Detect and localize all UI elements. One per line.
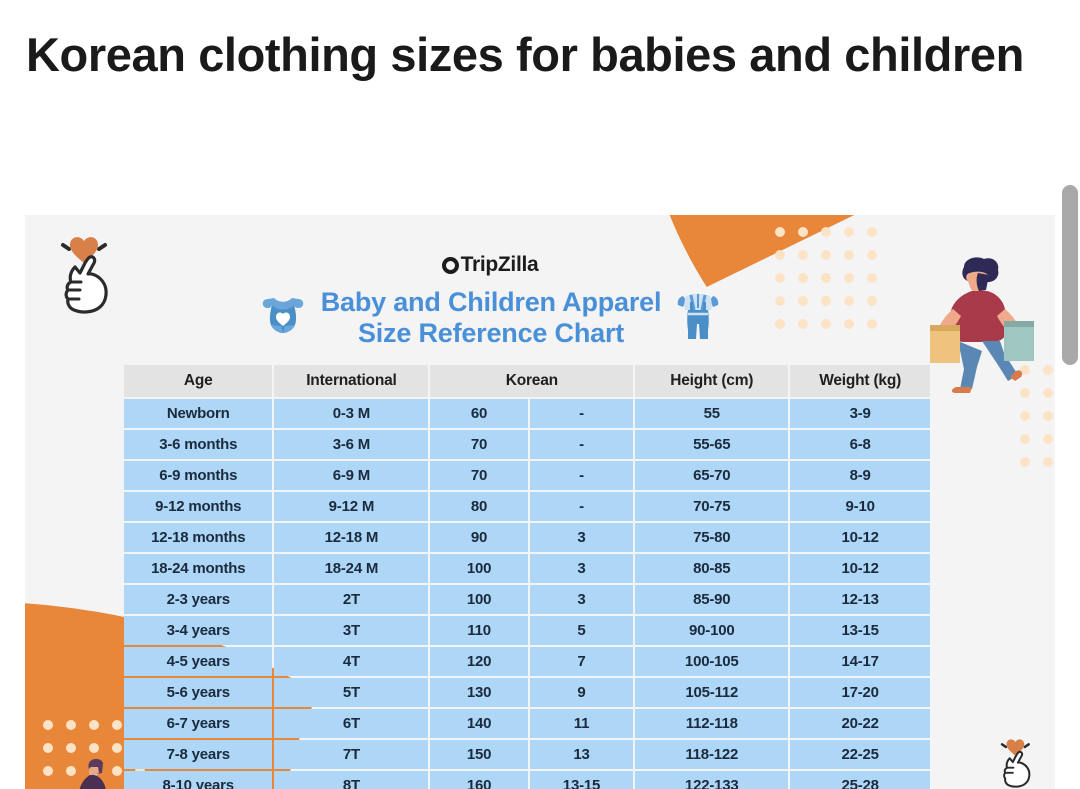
cell-korean-age: - xyxy=(530,399,633,428)
brand-logo: TripZilla xyxy=(25,253,955,277)
cell-korean-size: 160 xyxy=(430,771,527,789)
cell-age: 4-5 years xyxy=(124,647,272,676)
cell-international: 9-12 M xyxy=(274,492,428,521)
cell-age: 5-6 years xyxy=(124,678,272,707)
table-row: 6-9 months6-9 M70-65-708-9 xyxy=(124,461,930,490)
size-reference-table: Age International Korean Height (cm) Wei… xyxy=(122,363,932,789)
cell-age: 18-24 months xyxy=(124,554,272,583)
cell-age: 6-9 months xyxy=(124,461,272,490)
table-row: 4-5 years4T1207100-10514-17 xyxy=(124,647,930,676)
cell-weight: 9-10 xyxy=(790,492,930,521)
cell-korean-age: - xyxy=(530,430,633,459)
cell-age: 7-8 years xyxy=(124,740,272,769)
cell-korean-size: 70 xyxy=(430,461,527,490)
cell-weight: 17-20 xyxy=(790,678,930,707)
cell-weight: 8-9 xyxy=(790,461,930,490)
paw-logo-icon xyxy=(442,257,459,274)
cell-international: 0-3 M xyxy=(274,399,428,428)
cell-height: 85-90 xyxy=(635,585,788,614)
cell-weight: 10-12 xyxy=(790,554,930,583)
cell-age: 6-7 years xyxy=(124,709,272,738)
cell-weight: 13-15 xyxy=(790,616,930,645)
cell-international: 18-24 M xyxy=(274,554,428,583)
cell-height: 55-65 xyxy=(635,430,788,459)
cell-korean-age: 13 xyxy=(530,740,633,769)
cell-height: 55 xyxy=(635,399,788,428)
cell-international: 5T xyxy=(274,678,428,707)
brand-name: TripZilla xyxy=(461,253,539,276)
infographic-image: TripZilla Baby and Children Apparel Size… xyxy=(25,215,1055,789)
chart-title-row: Baby and Children Apparel Size Reference… xyxy=(25,287,955,348)
cell-international: 3T xyxy=(274,616,428,645)
cell-international: 4T xyxy=(274,647,428,676)
baby-dungarees-icon xyxy=(675,288,721,347)
column-header-age: Age xyxy=(124,365,272,397)
cell-age: Newborn xyxy=(124,399,272,428)
cell-korean-age: - xyxy=(530,461,633,490)
cell-korean-size: 120 xyxy=(430,647,527,676)
cell-korean-size: 80 xyxy=(430,492,527,521)
chart-title: Baby and Children Apparel Size Reference… xyxy=(321,287,662,348)
cell-weight: 20-22 xyxy=(790,709,930,738)
cell-korean-age: 7 xyxy=(530,647,633,676)
cell-height: 80-85 xyxy=(635,554,788,583)
finger-heart-icon xyxy=(980,733,1052,789)
cell-weight: 3-9 xyxy=(790,399,930,428)
cell-height: 75-80 xyxy=(635,523,788,552)
cell-age: 3-4 years xyxy=(124,616,272,645)
cell-height: 118-122 xyxy=(635,740,788,769)
page-title: Korean clothing sizes for babies and chi… xyxy=(26,24,1036,86)
cell-international: 2T xyxy=(274,585,428,614)
table-row: 7-8 years7T15013118-12222-25 xyxy=(124,740,930,769)
cell-weight: 6-8 xyxy=(790,430,930,459)
cell-height: 122-133 xyxy=(635,771,788,789)
cell-korean-size: 100 xyxy=(430,585,527,614)
cell-weight: 10-12 xyxy=(790,523,930,552)
vertical-scrollbar[interactable] xyxy=(1062,185,1078,365)
column-header-international: International xyxy=(274,365,428,397)
cell-height: 90-100 xyxy=(635,616,788,645)
chart-title-line-2: Size Reference Chart xyxy=(321,318,662,349)
cell-korean-age: 9 xyxy=(530,678,633,707)
cell-international: 7T xyxy=(274,740,428,769)
cell-korean-size: 60 xyxy=(430,399,527,428)
cell-age: 2-3 years xyxy=(124,585,272,614)
cell-international: 6T xyxy=(274,709,428,738)
cell-korean-size: 100 xyxy=(430,554,527,583)
table-row: 3-4 years3T110590-10013-15 xyxy=(124,616,930,645)
table-row: 2-3 years2T100385-9012-13 xyxy=(124,585,930,614)
cell-korean-size: 90 xyxy=(430,523,527,552)
table-row: 3-6 months3-6 M70-55-656-8 xyxy=(124,430,930,459)
cell-korean-age: - xyxy=(530,492,633,521)
column-header-height: Height (cm) xyxy=(635,365,788,397)
cell-age: 3-6 months xyxy=(124,430,272,459)
cell-korean-size: 140 xyxy=(430,709,527,738)
table-row: 6-7 years6T14011112-11820-22 xyxy=(124,709,930,738)
cell-korean-age: 5 xyxy=(530,616,633,645)
cell-international: 6-9 M xyxy=(274,461,428,490)
table-row: 8-10 years8T16013-15122-13325-28 xyxy=(124,771,930,789)
chart-title-line-1: Baby and Children Apparel xyxy=(321,287,662,318)
cell-korean-size: 70 xyxy=(430,430,527,459)
cell-international: 3-6 M xyxy=(274,430,428,459)
table-row: Newborn0-3 M60-553-9 xyxy=(124,399,930,428)
table-header-row: Age International Korean Height (cm) Wei… xyxy=(124,365,930,397)
cell-height: 65-70 xyxy=(635,461,788,490)
cell-korean-size: 130 xyxy=(430,678,527,707)
table-row: 9-12 months9-12 M80-70-759-10 xyxy=(124,492,930,521)
cell-international: 8T xyxy=(274,771,428,789)
cell-height: 100-105 xyxy=(635,647,788,676)
baby-onesie-icon xyxy=(259,292,307,343)
cell-weight: 14-17 xyxy=(790,647,930,676)
cell-height: 70-75 xyxy=(635,492,788,521)
cell-age: 9-12 months xyxy=(124,492,272,521)
table-row: 5-6 years5T1309105-11217-20 xyxy=(124,678,930,707)
cell-height: 112-118 xyxy=(635,709,788,738)
table-row: 18-24 months18-24 M100380-8510-12 xyxy=(124,554,930,583)
cell-korean-size: 150 xyxy=(430,740,527,769)
cell-weight: 25-28 xyxy=(790,771,930,789)
cell-korean-age: 3 xyxy=(530,523,633,552)
cell-weight: 12-13 xyxy=(790,585,930,614)
cell-korean-age: 3 xyxy=(530,585,633,614)
column-header-weight: Weight (kg) xyxy=(790,365,930,397)
column-header-korean: Korean xyxy=(430,365,633,397)
cell-korean-size: 110 xyxy=(430,616,527,645)
cell-age: 8-10 years xyxy=(124,771,272,789)
cell-international: 12-18 M xyxy=(274,523,428,552)
cell-korean-age: 3 xyxy=(530,554,633,583)
cell-weight: 22-25 xyxy=(790,740,930,769)
cell-age: 12-18 months xyxy=(124,523,272,552)
cell-height: 105-112 xyxy=(635,678,788,707)
table-row: 12-18 months12-18 M90375-8010-12 xyxy=(124,523,930,552)
walking-person-illustration xyxy=(70,755,130,789)
cell-korean-age: 13-15 xyxy=(530,771,633,789)
cell-korean-age: 11 xyxy=(530,709,633,738)
